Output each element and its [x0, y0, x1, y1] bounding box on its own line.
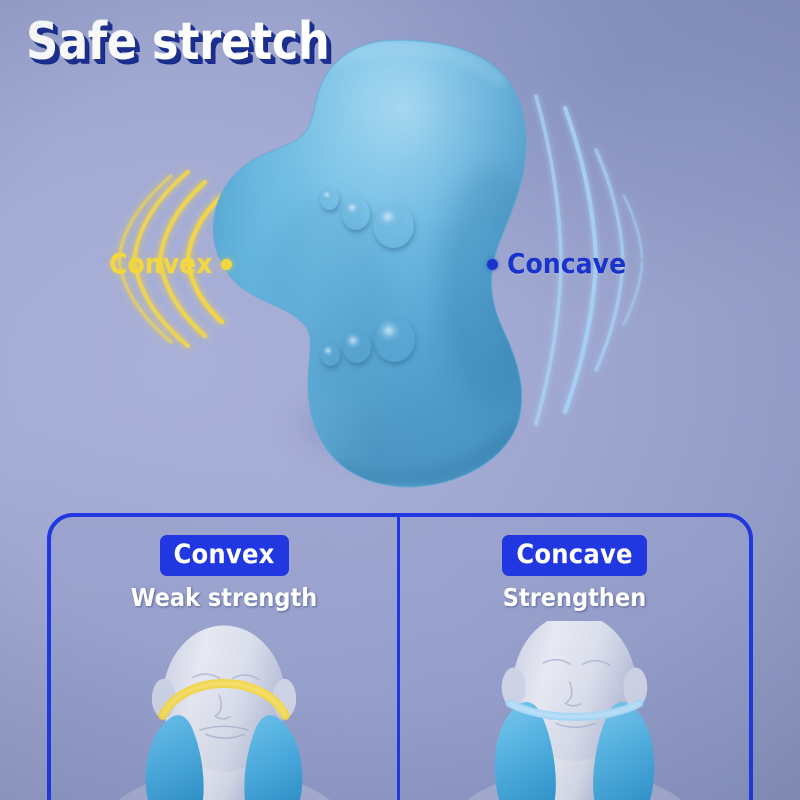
background-vignette [0, 0, 800, 800]
product-infographic: Safe stretch [0, 0, 800, 800]
